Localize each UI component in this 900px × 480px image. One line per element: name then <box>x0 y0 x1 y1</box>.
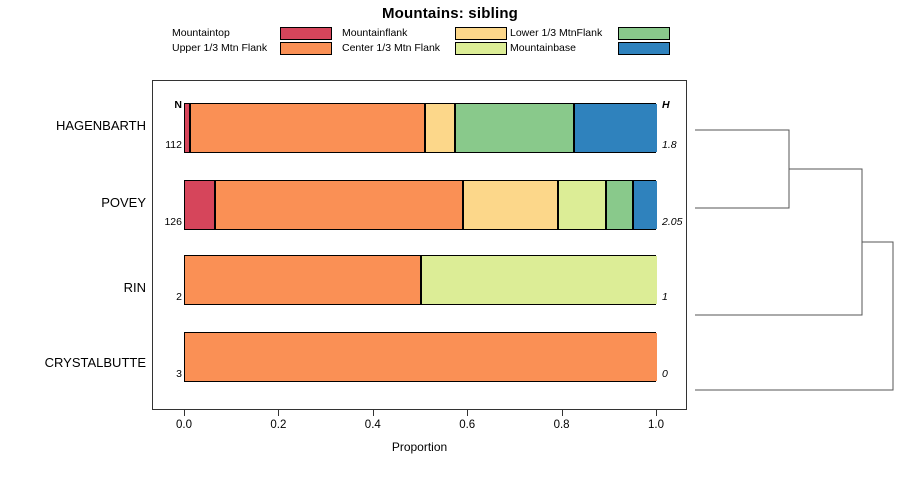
legend-entry[interactable]: Mountaintop <box>172 26 352 41</box>
x-axis-tick-label: 0.8 <box>542 419 582 431</box>
legend: MountaintopUpper 1/3 Mtn FlankMountainfl… <box>172 26 692 56</box>
legend-entry-label: Mountainflank <box>342 27 407 40</box>
x-axis-tick <box>467 410 468 416</box>
chart-canvas: Mountains: sibling MountaintopUpper 1/3 … <box>0 0 900 480</box>
legend-entry-label: Upper 1/3 Mtn Flank <box>172 42 267 55</box>
dendro-merge-2 <box>695 169 862 315</box>
x-axis-tick <box>562 410 563 416</box>
legend-entry[interactable]: Lower 1/3 MtnFlank <box>510 26 690 41</box>
legend-swatch <box>455 42 507 55</box>
legend-entry[interactable]: Mountainflank <box>342 26 522 41</box>
x-axis-tick <box>656 410 657 416</box>
legend-swatch <box>618 42 670 55</box>
x-axis-tick <box>184 410 185 416</box>
legend-swatch <box>280 27 332 40</box>
legend-entry[interactable]: Center 1/3 Mtn Flank <box>342 41 522 56</box>
category-label: CRYSTALBUTTE <box>0 355 146 370</box>
x-axis-tick-label: 0.6 <box>447 419 487 431</box>
legend-entry-label: Mountainbase <box>510 42 576 55</box>
dendrogram-svg <box>690 80 900 410</box>
x-axis-tick-label: 1.0 <box>636 419 676 431</box>
legend-swatch <box>280 42 332 55</box>
chart-title: Mountains: sibling <box>0 5 900 22</box>
legend-entry-label: Mountaintop <box>172 27 230 40</box>
legend-swatch <box>618 27 670 40</box>
legend-entry-label: Lower 1/3 MtnFlank <box>510 27 602 40</box>
x-axis-tick-label: 0.4 <box>353 419 393 431</box>
dendrogram <box>690 80 900 410</box>
category-label: POVEY <box>0 195 146 210</box>
category-label: RIN <box>0 280 146 295</box>
dendro-merge-1 <box>695 130 789 208</box>
x-axis-tick-label: 0.2 <box>258 419 298 431</box>
legend-entry-label: Center 1/3 Mtn Flank <box>342 42 440 55</box>
category-label: HAGENBARTH <box>0 118 146 133</box>
x-axis-tick <box>278 410 279 416</box>
legend-swatch <box>455 27 507 40</box>
x-axis-tick-label: 0.0 <box>164 419 204 431</box>
plot-frame <box>152 80 687 410</box>
x-axis: Proportion 0.00.20.40.60.81.0 <box>152 410 687 470</box>
dendro-merge-3 <box>695 242 893 390</box>
legend-entry[interactable]: Upper 1/3 Mtn Flank <box>172 41 352 56</box>
legend-entry[interactable]: Mountainbase <box>510 41 690 56</box>
x-axis-title: Proportion <box>152 440 687 454</box>
x-axis-tick <box>373 410 374 416</box>
